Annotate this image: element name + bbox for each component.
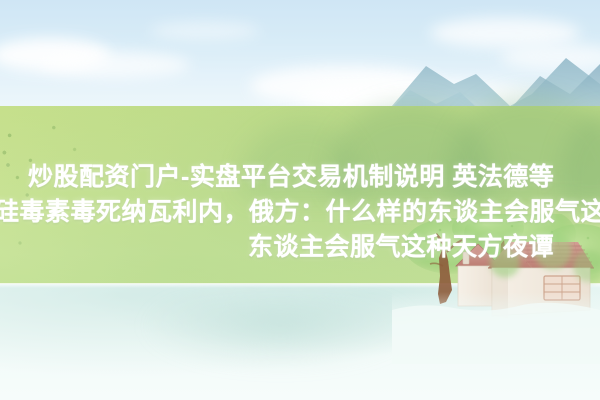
cloud-icon [40, 52, 190, 78]
cloud-icon [150, 22, 260, 40]
news-banner: 炒股配资门户-实盘平台交易机制说明 英法德等 硅毒素毒死纳瓦利内，俄方：什么样的… [0, 0, 600, 400]
flooded-house-illustration [392, 214, 600, 364]
foliage-speckle [0, 150, 116, 300]
